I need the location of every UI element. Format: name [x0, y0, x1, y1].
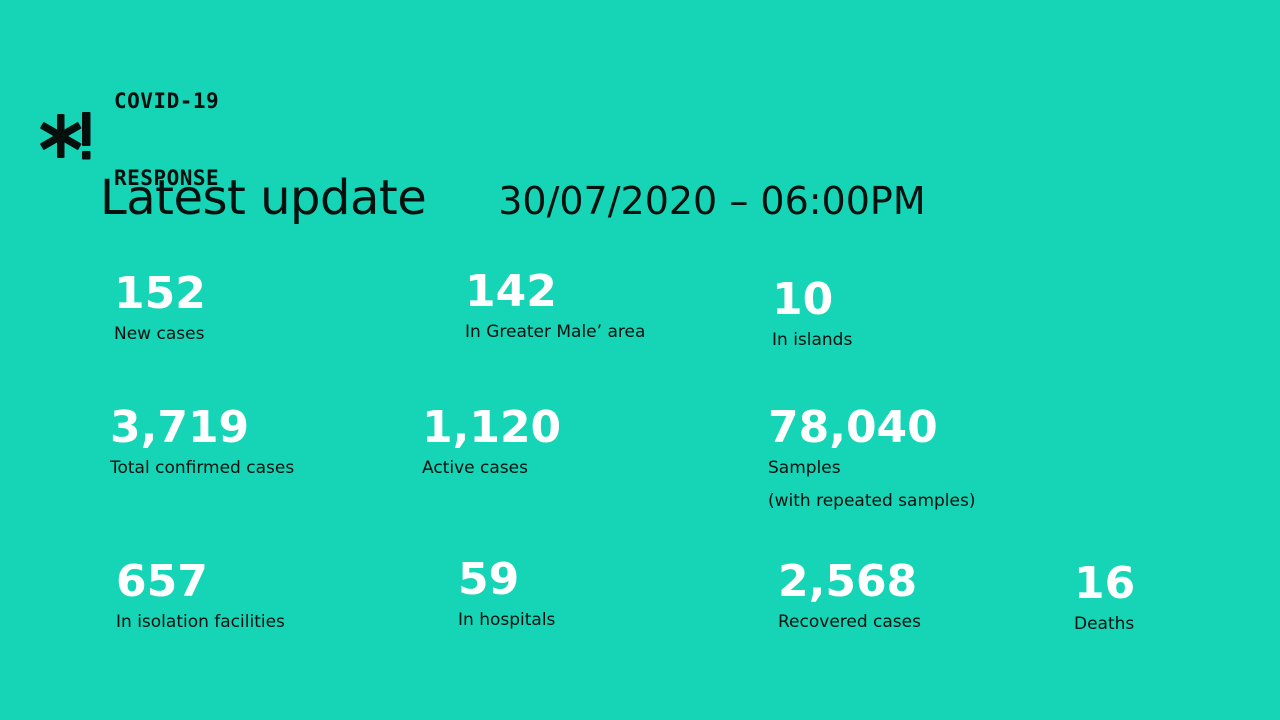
stat-label: In hospitals: [458, 610, 555, 631]
stat-total-confirmed-cases: 3,719 Total confirmed cases: [110, 406, 294, 479]
stat-label: Deaths: [1074, 614, 1135, 635]
stat-label: In isolation facilities: [116, 612, 285, 633]
stat-label: Samples: [768, 458, 975, 479]
stat-value: 16: [1074, 562, 1135, 606]
stat-value: 10: [772, 278, 852, 322]
stat-label: Recovered cases: [778, 612, 921, 633]
stat-value: 152: [114, 272, 206, 316]
covid-asterisk-exclamation-icon: [38, 110, 100, 170]
stat-in-islands: 10 In islands: [772, 278, 852, 351]
covid-update-slide: COVID-19 RESPONSE Latest update 30/07/20…: [0, 0, 1280, 720]
stat-label: New cases: [114, 324, 206, 345]
stat-in-hospitals: 59 In hospitals: [458, 558, 555, 631]
stat-value: 1,120: [422, 406, 561, 450]
page-title: Latest update: [100, 170, 426, 226]
stat-deaths: 16 Deaths: [1074, 562, 1135, 635]
stat-new-cases: 152 New cases: [114, 272, 206, 345]
stat-in-isolation-facilities: 657 In isolation facilities: [116, 560, 285, 633]
stat-label: In Greater Male’ area: [465, 322, 645, 343]
logo-line-1: COVID-19: [114, 89, 219, 115]
stat-value: 2,568: [778, 560, 921, 604]
stat-samples: 78,040 Samples (with repeated samples): [768, 406, 975, 513]
stat-label: In islands: [772, 330, 852, 351]
stat-sublabel: (with repeated samples): [768, 491, 975, 512]
stat-active-cases: 1,120 Active cases: [422, 406, 561, 479]
stat-label: Total confirmed cases: [110, 458, 294, 479]
stat-greater-male-area: 142 In Greater Male’ area: [465, 270, 645, 343]
stat-value: 78,040: [768, 406, 975, 450]
stat-value: 142: [465, 270, 645, 314]
stat-recovered-cases: 2,568 Recovered cases: [778, 560, 921, 633]
stat-label: Active cases: [422, 458, 561, 479]
heading-row: Latest update 30/07/2020 – 06:00PM: [100, 170, 926, 226]
update-timestamp: 30/07/2020 – 06:00PM: [498, 179, 925, 223]
stat-value: 657: [116, 560, 285, 604]
stat-value: 3,719: [110, 406, 294, 450]
stat-value: 59: [458, 558, 555, 602]
